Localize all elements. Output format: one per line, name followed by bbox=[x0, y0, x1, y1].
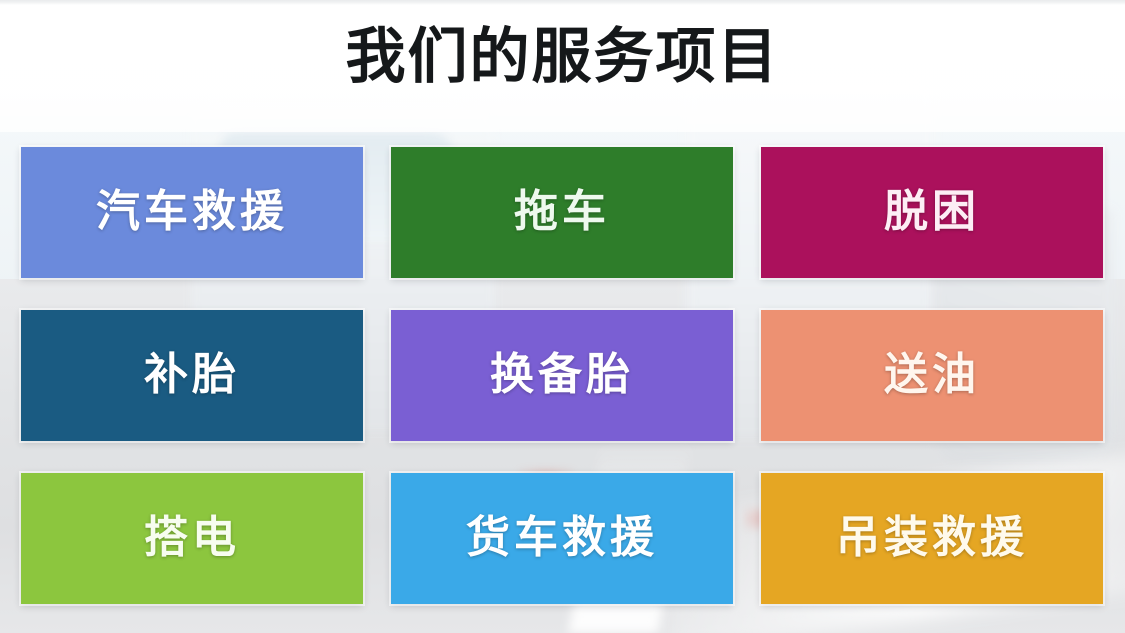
service-tile[interactable]: 补胎 bbox=[21, 310, 363, 441]
service-tile[interactable]: 汽车救援 bbox=[21, 147, 363, 278]
service-tile-grid: 汽车救援拖车脱困补胎换备胎送油搭电货车救援吊装救援 bbox=[21, 147, 1125, 604]
service-tile-label: 补胎 bbox=[144, 353, 240, 397]
page-title: 我们的服务项目 bbox=[0, 21, 1125, 93]
service-tile[interactable]: 货车救援 bbox=[391, 473, 733, 604]
service-tile-label: 汽车救援 bbox=[96, 190, 288, 234]
service-tile[interactable]: 脱困 bbox=[761, 147, 1103, 278]
service-tile-label: 脱困 bbox=[884, 190, 980, 234]
service-tile-label: 送油 bbox=[884, 353, 980, 397]
background-top-edge bbox=[0, 0, 1125, 5]
service-tile-label: 货车救援 bbox=[466, 516, 658, 560]
service-tile-label: 搭电 bbox=[144, 516, 240, 560]
service-tile[interactable]: 换备胎 bbox=[391, 310, 733, 441]
service-tile-label: 拖车 bbox=[514, 190, 610, 234]
service-tile[interactable]: 拖车 bbox=[391, 147, 733, 278]
service-tile-label: 换备胎 bbox=[490, 353, 634, 397]
service-menu-slide: 我们的服务项目 汽车救援拖车脱困补胎换备胎送油搭电货车救援吊装救援 bbox=[0, 0, 1125, 633]
service-tile[interactable]: 搭电 bbox=[21, 473, 363, 604]
service-tile[interactable]: 吊装救援 bbox=[761, 473, 1103, 604]
service-tile-label: 吊装救援 bbox=[836, 516, 1028, 560]
service-tile[interactable]: 送油 bbox=[761, 310, 1103, 441]
